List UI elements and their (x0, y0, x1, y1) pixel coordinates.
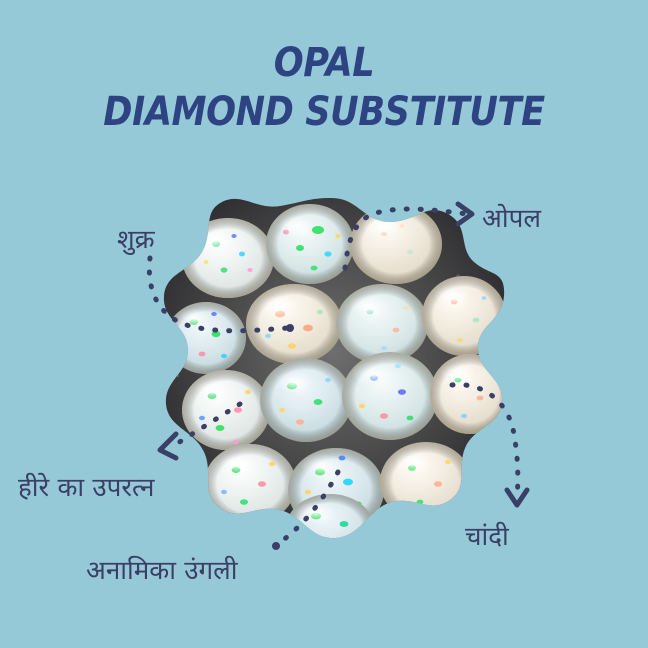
callout-label-opal: ओपल (482, 199, 541, 235)
callout-label-diamond-substitute: हीरे का उपरत्न (18, 468, 154, 504)
callout-label-shukra: शुक्र (117, 220, 155, 256)
opal-cluster-image (158, 196, 506, 544)
callout-label-silver: चांदी (465, 517, 509, 553)
callout-label-ring-finger: अनामिका उंगली (86, 551, 238, 587)
title-line-1: OPAL (39, 42, 609, 85)
page-title: OPAL DIAMOND SUBSTITUTE (0, 42, 648, 134)
title-line-2: DIAMOND SUBSTITUTE (39, 91, 609, 134)
poster-canvas: OPAL DIAMOND SUBSTITUTE (0, 0, 648, 648)
